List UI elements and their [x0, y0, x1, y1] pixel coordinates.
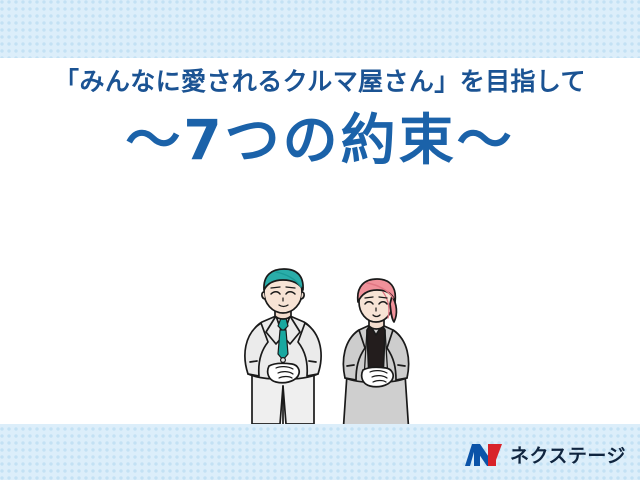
headline-block: 「みんなに愛されるクルマ屋さん」を目指して 〜7つの約束〜 — [0, 68, 640, 169]
nextage-n-mark — [465, 442, 503, 468]
bowing-staff-illustration — [236, 268, 426, 424]
woman-figure — [343, 279, 409, 424]
slide-title: 〜7つの約束〜 — [0, 112, 640, 170]
nextage-logo-text: ネクステージ — [510, 441, 626, 468]
nextage-logo: ネクステージ — [465, 441, 626, 468]
slide-canvas: 「みんなに愛されるクルマ屋さん」を目指して 〜7つの約束〜 — [0, 0, 640, 480]
man-figure — [245, 269, 321, 424]
slide-subtitle: 「みんなに愛されるクルマ屋さん」を目指して — [0, 68, 640, 96]
